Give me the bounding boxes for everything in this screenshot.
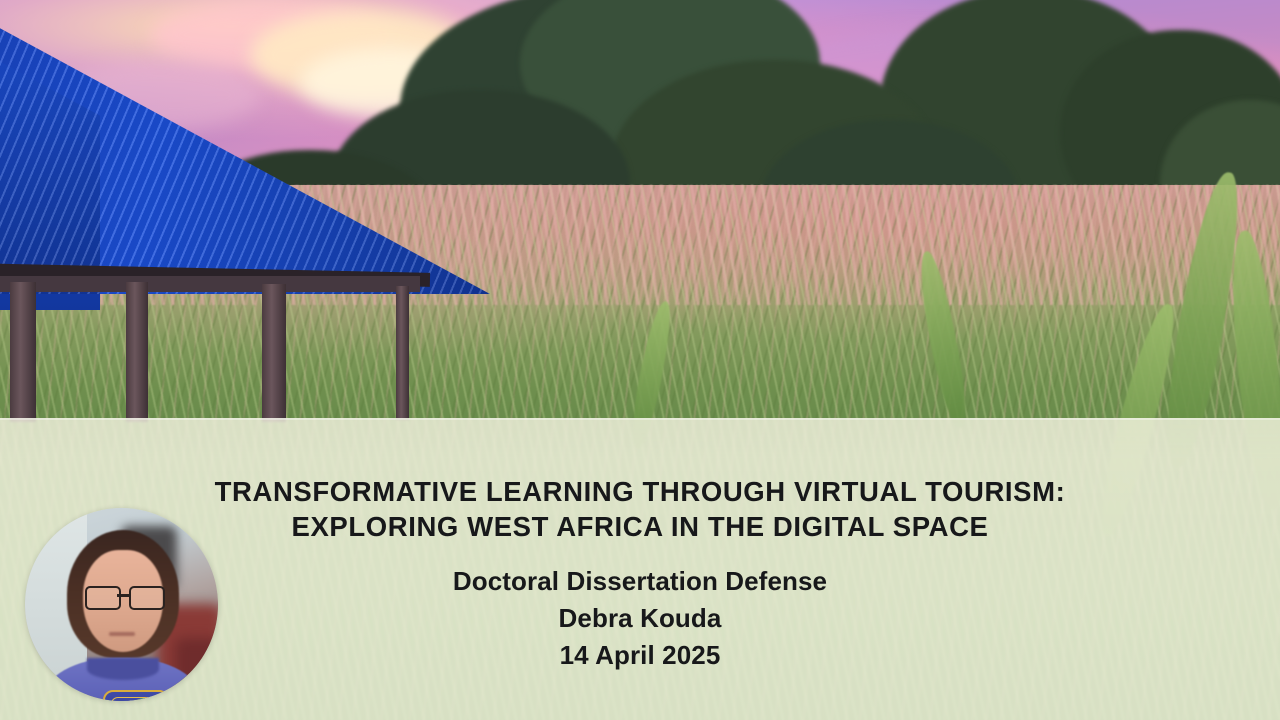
avatar-mouth [109, 632, 135, 636]
avatar-hoodie-collar [87, 658, 159, 680]
hoodie-logo-leaf-icon [135, 698, 151, 701]
caption-band-top-edge [0, 418, 1280, 420]
presentation-slide: TRANSFORMATIVE LEARNING THROUGH VIRTUAL … [0, 0, 1280, 720]
gazebo-post [262, 284, 286, 422]
title-line-1: TRANSFORMATIVE LEARNING THROUGH VIRTUAL … [0, 474, 1280, 509]
gazebo-post [396, 286, 409, 420]
glasses-bridge [117, 594, 129, 597]
glasses-right-lens [129, 586, 165, 610]
glasses-left-lens [85, 586, 121, 610]
glasses-icon [83, 586, 165, 606]
hoodie-logo: CHOW [103, 690, 169, 701]
gazebo-post [126, 282, 148, 422]
gazebo-post [10, 282, 36, 422]
gazebo-lintel [0, 276, 420, 292]
presenter-avatar[interactable]: CHOW [25, 508, 218, 701]
